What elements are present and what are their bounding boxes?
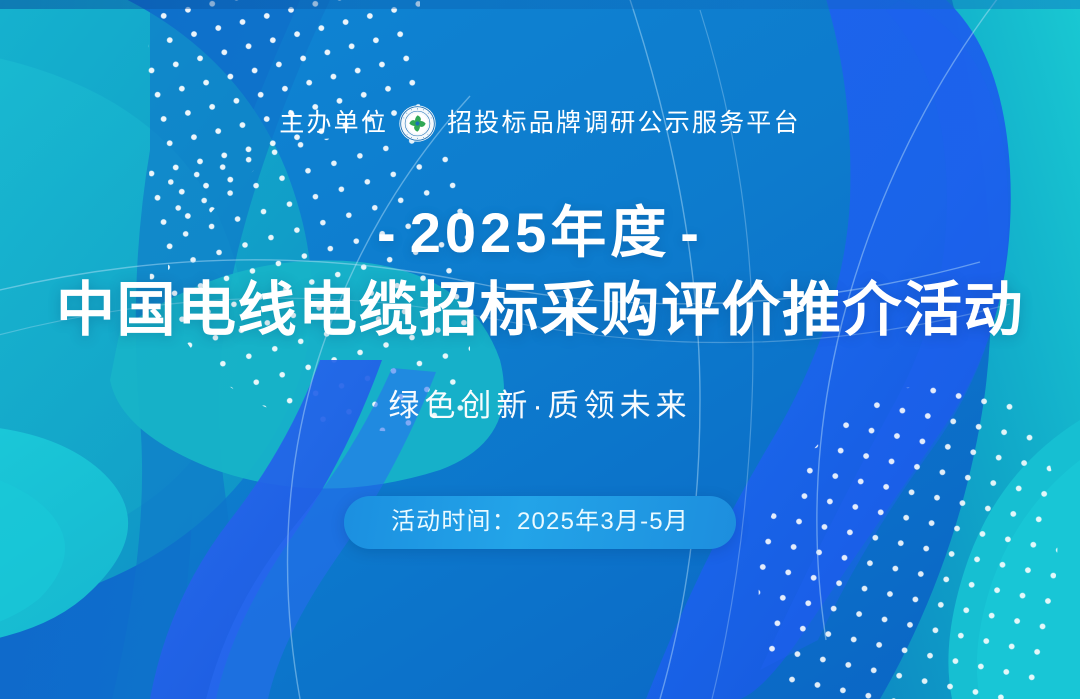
year-dash-right: - — [670, 205, 713, 261]
organizer-row: 主办单位 — [279, 103, 800, 143]
year-dash-left: - — [367, 205, 410, 261]
year-line: -2025年度- — [367, 205, 713, 261]
platform-seal-icon — [399, 105, 436, 142]
poster-headline: 中国电线电缆招标采购评价推介活动 — [56, 279, 1024, 342]
organizer-label: 主办单位 — [279, 111, 388, 136]
organizer-platform-name: 招投标品牌调研公示服务平台 — [447, 111, 801, 136]
poster-content: 主办单位 — [0, 0, 1080, 699]
event-date-pill: 活动时间：2025年3月-5月 — [344, 496, 736, 549]
year-text: 2025年度 — [410, 201, 671, 264]
event-date-text: 活动时间：2025年3月-5月 — [391, 510, 689, 534]
event-poster: 主办单位 — [0, 0, 1080, 699]
poster-subtitle: 绿色创新·质领未来 — [388, 390, 691, 421]
